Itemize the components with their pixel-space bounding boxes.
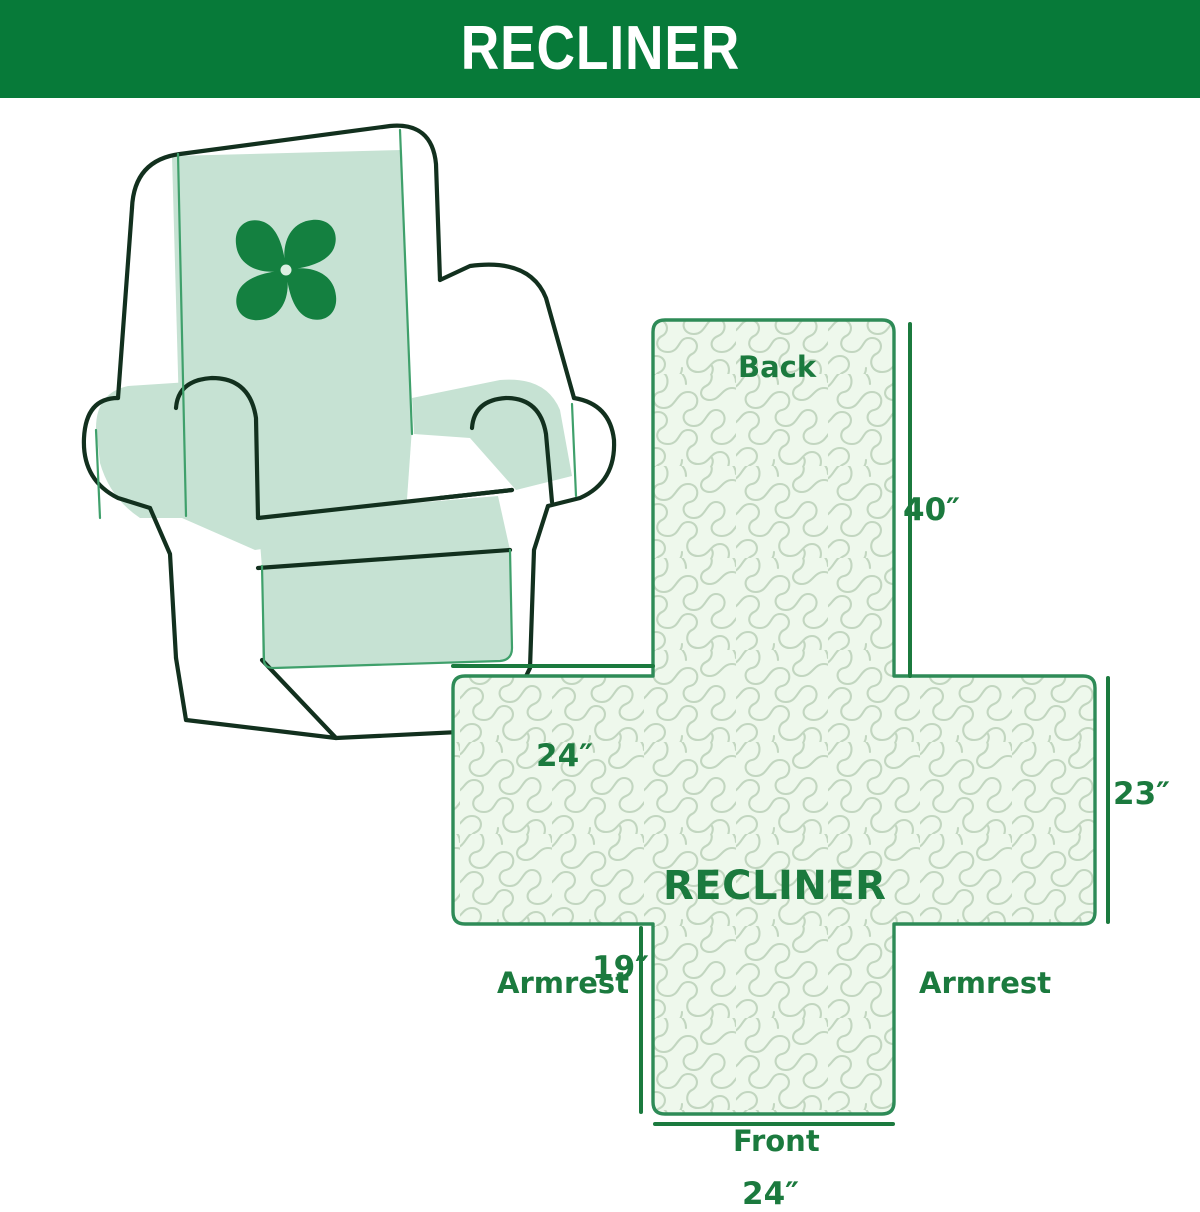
dimension-label-center-height: 23″ — [1113, 776, 1170, 812]
page-title: RECLINER — [460, 18, 739, 80]
dimension-label-front-height: 19″ — [592, 950, 649, 986]
panel-label-back: Back — [738, 350, 816, 384]
diagram-stage: Back RECLINER Armrest Armrest Front 40″ … — [0, 98, 1200, 1200]
panel-label-front: Front — [733, 1124, 820, 1158]
dimension-label-armrest-width: 24″ — [536, 738, 593, 774]
dimension-label-back-height: 40″ — [903, 492, 960, 528]
recliner-chair-illustration — [84, 126, 614, 738]
header-banner: RECLINER — [0, 0, 1200, 98]
chair-back-cover-fill — [172, 150, 412, 550]
dimension-label-front-width: 24″ — [742, 1176, 799, 1212]
diagram-svg — [0, 98, 1200, 1200]
panel-label-armrest-right: Armrest — [919, 966, 1051, 1000]
chair-front-skirt-fill — [262, 550, 512, 668]
pattern-center-label: RECLINER — [663, 863, 886, 909]
